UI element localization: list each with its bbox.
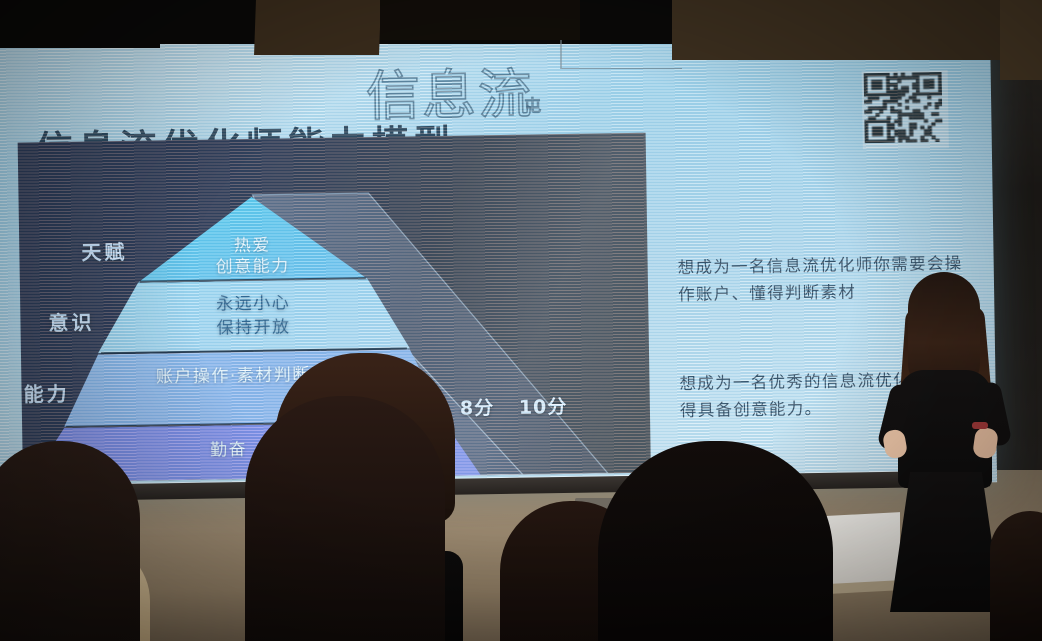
score-label-10: 10分	[519, 392, 568, 420]
presenter-wristband	[972, 422, 988, 429]
audience-head-4	[598, 441, 833, 641]
ceiling-beam-3	[672, 0, 1002, 60]
ceiling-bracket	[560, 40, 682, 69]
ceiling-beam-2	[380, 0, 580, 40]
ceiling-beam-1	[254, 0, 381, 55]
presenter-hand-right	[972, 427, 999, 460]
pyramid-side-label-1: 天赋	[81, 236, 127, 266]
pyramid-side-label-3: 能力	[23, 378, 69, 408]
score-label-8: 8分	[460, 393, 495, 421]
ceiling-beam-4	[1000, 0, 1042, 80]
audience-head-2	[245, 396, 445, 641]
photo-stage: 信息流 屯 信息流优化师能力模型 想成为一名信息流优化师你需要会操作账户、懂得判…	[0, 0, 1042, 641]
projection-screen: 信息流 屯 信息流优化师能力模型 想成为一名信息流优化师你需要会操作账户、懂得判…	[0, 22, 997, 498]
pyramid-side-label-2: 意识	[48, 306, 94, 336]
pyramid-layer-1-line-2: 创意能力	[137, 250, 367, 279]
audience-head-1	[0, 441, 140, 641]
ceiling-beam-left	[0, 0, 160, 48]
audience-head-6	[990, 511, 1042, 641]
watermark-mark: 屯	[524, 91, 541, 116]
pyramid-layer-2-line-2: 保持开放	[97, 310, 409, 340]
qr-code	[862, 70, 949, 149]
presenter-skirt	[890, 472, 1002, 612]
